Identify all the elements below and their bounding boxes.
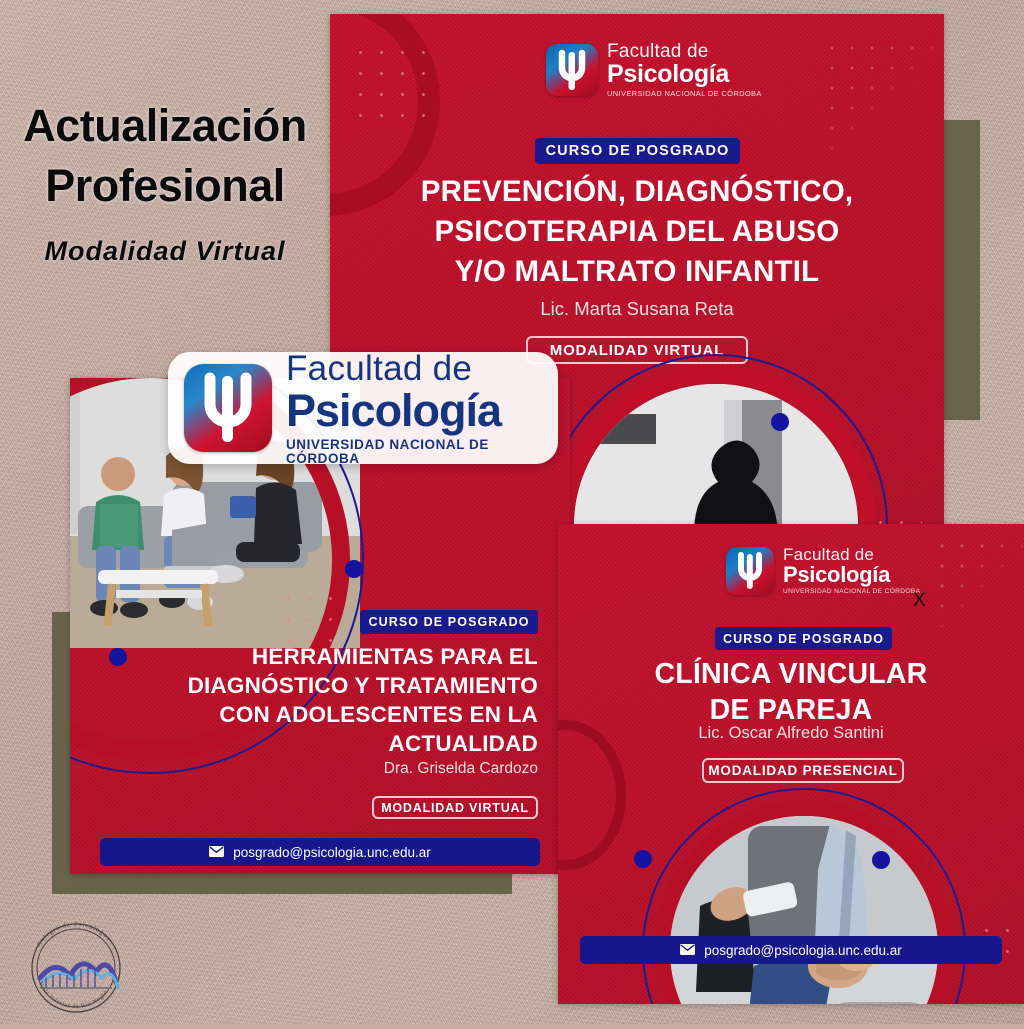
- decor-blue-arc-card-3: [642, 788, 966, 1004]
- card-title-card-2: HERRAMIENTAS PARA EL DIAGNÓSTICO Y TRATA…: [110, 642, 538, 758]
- title-line: ACTUALIDAD: [110, 729, 538, 758]
- envelope-icon: [680, 943, 695, 958]
- kicker-badge-card-2: CURSO DE POSGRADO: [360, 610, 538, 634]
- email-bar-card-3[interactable]: posgrado@psicologia.unc.edu.ar: [580, 936, 1002, 964]
- logo-faculty-line: Facultad de: [783, 546, 920, 563]
- unc-logo-text: Facultad de Psicología UNIVERSIDAD NACIO…: [783, 546, 920, 596]
- headline-block: Actualización Profesional Modalidad Virt…: [0, 96, 330, 267]
- badge-psicologia-line: Psicología: [286, 388, 542, 433]
- decor-blue-dot-card-3-right: [872, 851, 890, 869]
- x-mark-text: X: [913, 590, 926, 612]
- logo-university-line: UNIVERSIDAD NACIONAL DE CÓRDOBA: [783, 589, 920, 596]
- decor-dot-grid-right: [822, 38, 934, 150]
- speaker-card-2: Dra. Griselda Cardozo: [110, 760, 538, 778]
- floating-logo-text: Facultad de Psicología UNIVERSIDAD NACIO…: [286, 351, 542, 465]
- title-line: PSICOTERAPIA DEL ABUSO: [352, 212, 922, 252]
- title-line: DE PAREJA: [576, 692, 1006, 728]
- decor-blue-dot-card-2: [345, 560, 363, 578]
- badge-faculty-line: Facultad de: [286, 351, 542, 386]
- badge-university-line: UNIVERSIDAD NACIONAL DE CÓRDOBA: [286, 438, 542, 465]
- stamp-top-text: Colegio de Psicólogos: [36, 921, 112, 948]
- title-line: CON ADOLESCENTES EN LA: [110, 700, 538, 729]
- floating-unc-logo-badge: Facultad de Psicología UNIVERSIDAD NACIO…: [168, 352, 558, 464]
- logo-psicologia-line: Psicología: [783, 564, 920, 586]
- logo-psicologia-line: Psicología: [607, 62, 762, 87]
- email-text-card-3: posgrado@psicologia.unc.edu.ar: [704, 943, 902, 958]
- psi-logo-mark-icon: [546, 44, 598, 96]
- title-line: CLÍNICA VINCULAR: [576, 656, 1006, 692]
- card-title-card-3: CLÍNICA VINCULAR DE PAREJA: [576, 656, 1006, 728]
- modality-badge-card-2: MODALIDAD VIRTUAL: [372, 796, 538, 819]
- title-line: Y/O MALTRATO INFANTIL: [352, 252, 922, 292]
- title-line: HERRAMIENTAS PARA EL: [110, 642, 538, 671]
- logo-faculty-line: Facultad de: [607, 42, 762, 61]
- unc-logo-card-3: Facultad de Psicología UNIVERSIDAD NACIO…: [726, 546, 920, 596]
- speaker-card-3: Lic. Oscar Alfredo Santini: [576, 724, 1006, 743]
- title-line: DIAGNÓSTICO Y TRATAMIENTO: [110, 671, 538, 700]
- decor-blue-dot-card-1: [771, 413, 789, 431]
- psi-logo-mark-icon: [184, 364, 272, 452]
- headline-line-2: Profesional: [0, 156, 330, 216]
- card-title-card-1: PREVENCIÓN, DIAGNÓSTICO, PSICOTERAPIA DE…: [352, 172, 922, 292]
- email-text-card-2: posgrado@psicologia.unc.edu.ar: [233, 845, 431, 860]
- decor-blue-dot-card-3-left: [634, 850, 652, 868]
- email-bar-card-2[interactable]: posgrado@psicologia.unc.edu.ar: [100, 838, 540, 866]
- flyer-card-clinica[interactable]: Facultad de Psicología UNIVERSIDAD NACIO…: [558, 524, 1024, 1004]
- title-line: PREVENCIÓN, DIAGNÓSTICO,: [352, 172, 922, 212]
- svg-text:Colegio de Psicólogos: Colegio de Psicólogos: [36, 921, 112, 948]
- envelope-icon: [209, 845, 224, 860]
- unc-logo-card-1: Facultad de Psicología UNIVERSIDAD NACIO…: [546, 42, 762, 98]
- kicker-badge-card-3: CURSO DE POSGRADO: [715, 627, 892, 650]
- headline-subtitle: Modalidad Virtual: [0, 236, 330, 267]
- unc-logo-text: Facultad de Psicología UNIVERSIDAD NACIO…: [607, 42, 762, 98]
- headline-line-1: Actualización: [0, 96, 330, 156]
- modality-badge-card-3: MODALIDAD PRESENCIAL: [702, 758, 904, 783]
- psi-logo-mark-icon: [726, 547, 774, 595]
- colegio-psicologos-stamp: Colegio de Psicólogos Valle Inferior de …: [20, 912, 132, 1024]
- speaker-card-1: Lic. Marta Susana Reta: [352, 298, 922, 320]
- logo-university-line: UNIVERSIDAD NACIONAL DE CÓRDOBA: [607, 90, 762, 98]
- decor-dot-grid-card-3: [932, 536, 1024, 628]
- khaki-shadow-card-1: [938, 120, 980, 420]
- decor-dot-grid-left: [350, 42, 434, 128]
- kicker-badge-card-1: CURSO DE POSGRADO: [535, 138, 740, 164]
